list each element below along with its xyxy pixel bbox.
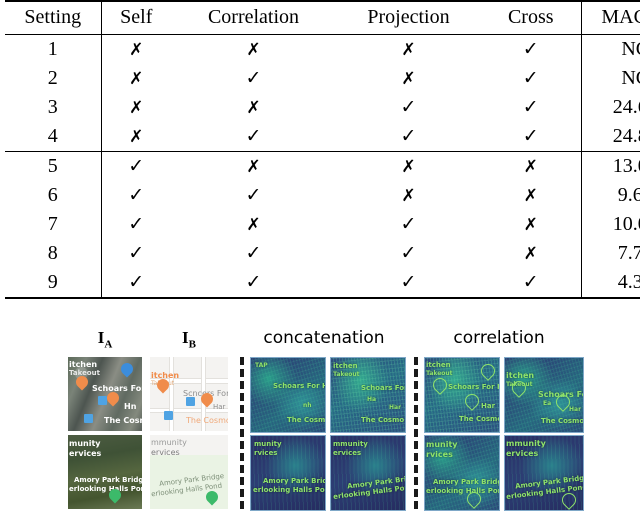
cell-mace: 9.68: [581, 181, 640, 210]
cell-setting: 7: [5, 210, 101, 239]
panel-image-b-row1: itchen Takeout Scncers For Har The Cosmo: [150, 357, 228, 431]
mark-check-icon: ✓: [246, 186, 262, 205]
cell-setting: 9: [5, 268, 101, 298]
mark-cross-icon: ✗: [524, 159, 538, 176]
cell-setting: 1: [5, 35, 101, 65]
mark-check-icon: ✓: [523, 40, 539, 59]
mark-cross-icon: ✗: [401, 188, 415, 205]
map-marker-icon: [164, 411, 173, 420]
cell-projection: ✓: [336, 268, 481, 298]
panel-concat-a-row2: munity rvices Amory Park Bridge erlookin…: [250, 435, 326, 511]
cell-correlation: ✗: [171, 152, 336, 182]
cell-cross: ✓: [481, 93, 581, 122]
cell-cross: ✗: [481, 210, 581, 239]
cell-correlation: ✓: [171, 122, 336, 152]
mark-cross-icon: ✗: [246, 42, 260, 59]
label-image-b: IB: [182, 328, 196, 350]
column-header-mace: MACE↓: [581, 1, 640, 35]
cell-self: ✓: [101, 239, 171, 268]
label-correlation: correlation: [453, 328, 544, 348]
cell-cross: ✗: [481, 181, 581, 210]
mark-check-icon: ✓: [246, 244, 262, 263]
cell-projection: ✓: [336, 210, 481, 239]
mark-check-icon: ✓: [128, 273, 144, 292]
table-row: 6 ✓ ✓ ✗ ✗ 9.68: [5, 181, 640, 210]
mark-check-icon: ✓: [523, 69, 539, 88]
mark-cross-icon: ✗: [129, 42, 143, 59]
cell-mace: 24.80: [581, 122, 640, 152]
label-image-a: IA: [98, 328, 113, 350]
cell-cross: ✗: [481, 239, 581, 268]
panel-corr-b-row1: itchen Takeout Schoars For Ea Har The Co…: [504, 357, 584, 433]
cell-correlation: ✓: [171, 181, 336, 210]
figure-column-labels: IA IB concatenation correlation: [0, 310, 640, 336]
cell-correlation: ✓: [171, 268, 336, 298]
label-concatenation: concatenation: [263, 328, 384, 348]
mark-check-icon: ✓: [401, 273, 417, 292]
cell-setting: 5: [5, 152, 101, 182]
cell-projection: ✓: [336, 93, 481, 122]
mark-cross-icon: ✗: [129, 100, 143, 117]
cell-projection: ✗: [336, 152, 481, 182]
panel-concat-b-row2: mmunity ervices Amory Park Bridge erlook…: [330, 435, 406, 511]
cell-mace: 10.01: [581, 210, 640, 239]
panel-image-a-row2: munity ervices Amory Park Bridge erlooki…: [68, 435, 142, 509]
mark-check-icon: ✓: [523, 98, 539, 117]
mark-check-icon: ✓: [523, 127, 539, 146]
cell-projection: ✓: [336, 239, 481, 268]
panel-corr-b-row2: mmunity ervices Amory Park Bridge erlook…: [504, 435, 584, 511]
mark-cross-icon: ✗: [246, 100, 260, 117]
cell-setting: 4: [5, 122, 101, 152]
cell-cross: ✗: [481, 152, 581, 182]
table-body: 1 ✗ ✗ ✗ ✓ NC 2 ✗ ✓ ✗ ✓ NC 3 ✗ ✗ ✓ ✓: [5, 35, 640, 299]
map-marker-icon: [84, 414, 93, 423]
table-row: 5 ✓ ✗ ✗ ✗ 13.06: [5, 152, 640, 182]
mark-check-icon: ✓: [401, 215, 417, 234]
cell-mace: 13.06: [581, 152, 640, 182]
cell-self: ✗: [101, 93, 171, 122]
mark-check-icon: ✓: [128, 215, 144, 234]
cell-cross: ✓: [481, 35, 581, 65]
feature-visualization-figure: IA IB concatenation correlation itchen T…: [0, 310, 640, 509]
cell-correlation: ✓: [171, 64, 336, 93]
cell-self: ✗: [101, 64, 171, 93]
ablation-table-container: Setting Self Correlation Projection Cros…: [0, 0, 640, 310]
cell-mace: NC: [581, 35, 640, 65]
cell-correlation: ✗: [171, 93, 336, 122]
table-row: 9 ✓ ✓ ✓ ✓ 4.35: [5, 268, 640, 298]
table-row: 2 ✗ ✓ ✗ ✓ NC: [5, 64, 640, 93]
cell-projection: ✗: [336, 35, 481, 65]
mark-check-icon: ✓: [128, 157, 144, 176]
panel-concat-a-row1: TAP Schoars For H nh The Cosmo: [250, 357, 326, 433]
group-separator-left: [240, 357, 244, 509]
panel-corr-a-row2: munity rvices Amory Park Bridge erlookin…: [424, 435, 500, 511]
mark-check-icon: ✓: [401, 244, 417, 263]
cell-self: ✗: [101, 122, 171, 152]
mark-check-icon: ✓: [523, 273, 539, 292]
column-header-correlation: Correlation: [171, 1, 336, 35]
cell-self: ✓: [101, 152, 171, 182]
cell-cross: ✓: [481, 64, 581, 93]
cell-setting: 2: [5, 64, 101, 93]
mark-cross-icon: ✗: [401, 71, 415, 88]
cell-setting: 8: [5, 239, 101, 268]
mark-cross-icon: ✗: [246, 217, 260, 234]
map-marker-icon: [98, 396, 107, 405]
mark-cross-icon: ✗: [129, 71, 143, 88]
cell-self: ✓: [101, 210, 171, 239]
panel-concat-b-row1: itchen Takeout Schoars For Ha Har The Co…: [330, 357, 406, 433]
mark-cross-icon: ✗: [401, 42, 415, 59]
cell-self: ✓: [101, 181, 171, 210]
panel-image-b-row2: mmunity ervices Amory Park Bridge erlook…: [150, 435, 228, 509]
mark-check-icon: ✓: [128, 244, 144, 263]
column-header-projection: Projection: [336, 1, 481, 35]
mark-cross-icon: ✗: [129, 129, 143, 146]
table-row: 8 ✓ ✓ ✓ ✗ 7.70: [5, 239, 640, 268]
ablation-table: Setting Self Correlation Projection Cros…: [5, 0, 640, 299]
cell-projection: ✗: [336, 64, 481, 93]
column-header-self: Self: [101, 1, 171, 35]
cell-mace: 4.35: [581, 268, 640, 298]
table-header-row: Setting Self Correlation Projection Cros…: [5, 1, 640, 35]
cell-self: ✓: [101, 268, 171, 298]
cell-setting: 6: [5, 181, 101, 210]
mark-check-icon: ✓: [401, 127, 417, 146]
cell-self: ✗: [101, 35, 171, 65]
cell-correlation: ✗: [171, 35, 336, 65]
table-row: 7 ✓ ✗ ✓ ✗ 10.01: [5, 210, 640, 239]
cell-cross: ✓: [481, 268, 581, 298]
mark-check-icon: ✓: [246, 69, 262, 88]
mark-check-icon: ✓: [246, 273, 262, 292]
column-header-setting: Setting: [5, 1, 101, 35]
column-header-cross: Cross: [481, 1, 581, 35]
cell-cross: ✓: [481, 122, 581, 152]
cell-projection: ✗: [336, 181, 481, 210]
map-marker-icon: [186, 397, 195, 406]
panel-corr-a-row1: itchen Takeout Schoars For H Har The Cos…: [424, 357, 500, 433]
mark-cross-icon: ✗: [524, 246, 538, 263]
cell-mace: 7.70: [581, 239, 640, 268]
mark-cross-icon: ✗: [524, 188, 538, 205]
group-separator-right: [414, 357, 418, 509]
mark-check-icon: ✓: [246, 127, 262, 146]
cell-mace: 24.64: [581, 93, 640, 122]
cell-correlation: ✗: [171, 210, 336, 239]
table-row: 1 ✗ ✗ ✗ ✓ NC: [5, 35, 640, 65]
mark-check-icon: ✓: [128, 186, 144, 205]
cell-mace: NC: [581, 64, 640, 93]
cell-correlation: ✓: [171, 239, 336, 268]
table-row: 3 ✗ ✗ ✓ ✓ 24.64: [5, 93, 640, 122]
mark-cross-icon: ✗: [401, 159, 415, 176]
mark-check-icon: ✓: [401, 98, 417, 117]
cell-setting: 3: [5, 93, 101, 122]
cell-projection: ✓: [336, 122, 481, 152]
mark-cross-icon: ✗: [524, 217, 538, 234]
table-header: Setting Self Correlation Projection Cros…: [5, 1, 640, 35]
table-row: 4 ✗ ✓ ✓ ✓ 24.80: [5, 122, 640, 152]
panel-image-a-row1: itchen Takeout Schoars For H Hn The Cosm…: [68, 357, 142, 431]
mark-cross-icon: ✗: [246, 159, 260, 176]
